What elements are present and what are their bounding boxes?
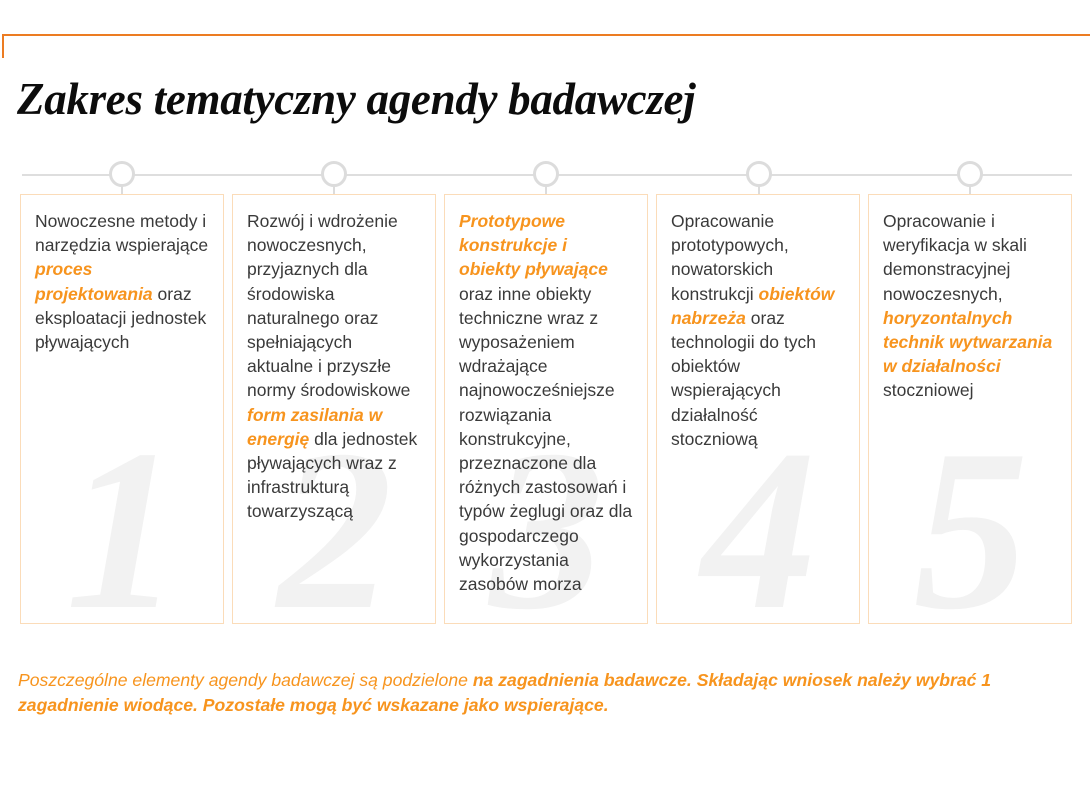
text-run: Nowoczesne metody i narzędzia wspierając… [35, 211, 208, 255]
card-text: Opracowanie i weryfikacja w skali demons… [869, 195, 1071, 403]
highlighted-phrase: horyzontalnych technik wytwarzania w dzi… [883, 308, 1052, 376]
text-run: Poszczególne elementy agendy badawczej s… [18, 670, 473, 690]
card-text: Opracowanie prototypowych, nowatorskich … [657, 195, 859, 451]
timeline-node-1 [102, 150, 142, 200]
highlighted-phrase: Prototypowe konstrukcje i obiekty pływaj… [459, 211, 608, 279]
text-run: oraz inne obiekty techniczne wraz z wypo… [459, 284, 632, 594]
agenda-card: 3 Prototypowe konstrukcje i obiekty pływ… [444, 194, 648, 624]
agenda-card: 5 Opracowanie i weryfikacja w skali demo… [868, 194, 1072, 624]
timeline-node-2 [314, 150, 354, 200]
text-run: Rozwój i wdrożenie nowoczesnych, przyjaz… [247, 211, 410, 400]
timeline-node-4 [739, 150, 779, 200]
card-text: Nowoczesne metody i narzędzia wspierając… [21, 195, 223, 354]
card-watermark-number: 1 [21, 415, 225, 645]
footer-note: Poszczególne elementy agendy badawczej s… [18, 668, 1058, 719]
highlighted-phrase: proces projektowania [35, 259, 153, 303]
card-text: Rozwój i wdrożenie nowoczesnych, przyjaz… [233, 195, 435, 524]
agenda-card: 1 Nowoczesne metody i narzędzia wspieraj… [20, 194, 224, 624]
text-run: Opracowanie i weryfikacja w skali demons… [883, 211, 1027, 304]
card-watermark-number: 5 [869, 415, 1073, 645]
top-accent-rule [2, 34, 1090, 36]
top-accent-rule-stub [2, 34, 4, 58]
agenda-card-list: 1 Nowoczesne metody i narzędzia wspieraj… [0, 194, 1090, 624]
agenda-card: 4 Opracowanie prototypowych, nowatorskic… [656, 194, 860, 624]
text-run: stoczniowej [883, 380, 973, 400]
timeline-node-3 [526, 150, 566, 200]
page-title: Zakres tematyczny agendy badawczej [17, 72, 695, 126]
card-text: Prototypowe konstrukcje i obiekty pływaj… [445, 195, 647, 596]
timeline [0, 150, 1090, 200]
timeline-node-5 [950, 150, 990, 200]
text-run: oraz technologii do tych obiektów wspier… [671, 308, 816, 449]
agenda-card: 2 Rozwój i wdrożenie nowoczesnych, przyj… [232, 194, 436, 624]
